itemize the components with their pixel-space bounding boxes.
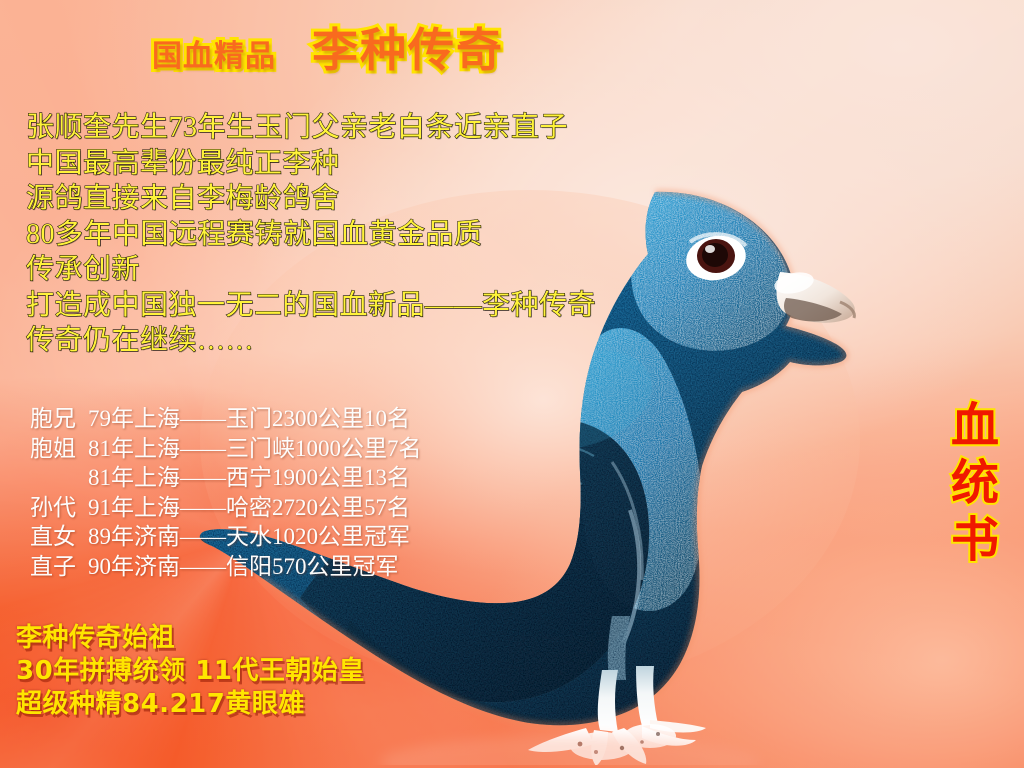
description-line: 传奇仍在继续…… [26,323,786,359]
pedigree-record-list: 胞兄79年上海——玉门2300公里10名 胞姐81年上海——三门峡1000公里7… [30,404,550,581]
pedigree-result: 90年济南——信阳570公里冠军 [88,554,399,579]
pedigree-result: 91年上海——哈密2720公里57名 [88,495,410,520]
pedigree-row: 直女89年济南——天水1020公里冠军 [30,522,550,552]
pedigree-relation: 胞姐 [30,434,88,464]
pedigree-result: 89年济南——天水1020公里冠军 [88,524,410,549]
pedigree-relation: 直子 [30,552,88,582]
footer-line: 李种传奇始祖 [16,622,576,655]
vertical-label-char: 书 [944,512,1006,569]
title-main: 李种传奇 [312,27,504,73]
poster-canvas: 国血精品 李种传奇 张顺奎先生73年生玉门父亲老白条近亲直子 中国最高辈份最纯正… [0,0,1024,768]
footer-block: 李种传奇始祖 30年拼搏统领 11代王朝始皇 超级种精84.217黄眼雄 [16,622,576,721]
description-line: 80多年中国远程赛铸就国血黄金品质 [26,217,786,253]
title-prefix: 国血精品 [152,42,276,72]
description-block: 张顺奎先生73年生玉门父亲老白条近亲直子 中国最高辈份最纯正李种 源鸽直接来自李… [26,110,786,359]
vertical-pedigree-label: 血 统 书 [944,398,1006,569]
pedigree-row: 胞姐81年上海——三门峡1000公里7名 [30,434,550,464]
vertical-label-char: 血 [944,398,1006,455]
footer-line: 超级种精84.217黄眼雄 [16,688,576,721]
pedigree-relation: 孙代 [30,493,88,523]
pedigree-relation: 胞兄 [30,404,88,434]
vertical-label-char: 统 [944,455,1006,512]
pedigree-row: 孙代91年上海——哈密2720公里57名 [30,493,550,523]
description-line: 打造成中国独一无二的国血新品——李种传奇 [26,288,786,324]
description-line: 张顺奎先生73年生玉门父亲老白条近亲直子 [26,110,786,146]
pedigree-row: 81年上海——西宁1900公里13名 [30,463,550,493]
pedigree-result: 79年上海——玉门2300公里10名 [88,406,410,431]
pedigree-row: 胞兄79年上海——玉门2300公里10名 [30,404,550,434]
description-line: 中国最高辈份最纯正李种 [26,146,786,182]
pedigree-result: 81年上海——西宁1900公里13名 [88,465,410,490]
description-line: 传承创新 [26,252,786,288]
footer-line: 30年拼搏统领 11代王朝始皇 [16,655,576,688]
description-line: 源鸽直接来自李梅龄鸽舍 [26,181,786,217]
pedigree-result: 81年上海——三门峡1000公里7名 [88,436,422,461]
poster-title: 国血精品 李种传奇 [0,27,640,73]
pedigree-relation: 直女 [30,522,88,552]
pedigree-row: 直子90年济南——信阳570公里冠军 [30,552,550,582]
